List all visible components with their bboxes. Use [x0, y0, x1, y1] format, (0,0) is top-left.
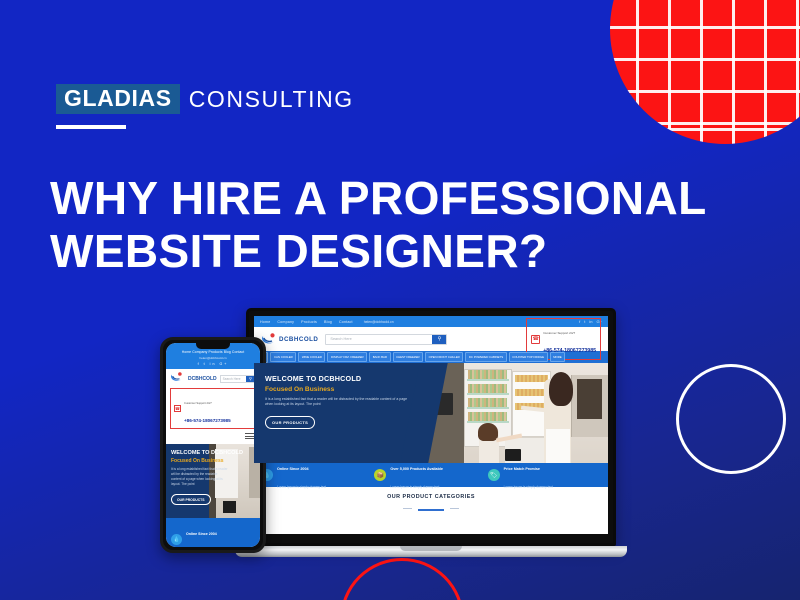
phone-hero-title: WELCOME TO DCBHCOLD [171, 450, 255, 456]
kitchen-oven-window [577, 379, 603, 419]
woman-hair [549, 372, 573, 406]
phone-our-products-button[interactable]: OUR PRODUCTS [171, 494, 211, 505]
phone-support-phone[interactable]: +86-574-18067273985 [184, 418, 231, 423]
fridge-bottles [468, 412, 507, 421]
hero-text-panel: WELCOME TO DCBHCOLD Focused On Business … [254, 363, 424, 463]
page-title: WHY HIRE A PROFESSIONAL WEBSITE DESIGNER… [50, 172, 770, 279]
phone-hero-subtitle: Focused On Business [171, 458, 255, 464]
search-placeholder: Search Here [326, 337, 432, 341]
hero-title: WELCOME TO DCBHCOLD [265, 374, 414, 383]
site-logo-text: DCBHCOLD [279, 336, 318, 343]
laptop-notch [400, 546, 462, 551]
phone-notch [196, 343, 230, 349]
catnav-item-chest-freezer[interactable]: CHEST FREEZER [393, 352, 424, 362]
brand-subtitle: CONSULTING [189, 88, 354, 111]
feature-title: Price Match Promise [504, 467, 540, 471]
tag-icon: 🏷 [488, 469, 500, 481]
phone-link-company[interactable]: Company [192, 350, 207, 354]
topbar-link-contact[interactable]: Contact [339, 320, 353, 324]
category-nav: ⌂ CAN COOLER WINE COOLER DISPLAY FRZ. FR… [254, 351, 608, 363]
laptop-lid: Home Company Products Blog Contact helen… [246, 308, 616, 546]
topbar-link-company[interactable]: Company [277, 320, 294, 324]
feature-subtitle: Lorem Ipsum is simply dummy text [277, 485, 326, 489]
swoosh-logo-icon [170, 372, 185, 385]
phone-hero-section: WELCOME TO DCBHCOLD Focused On Business … [166, 444, 260, 518]
hero-image [424, 363, 608, 463]
phone-support-label: Customer Support 24/7 [184, 402, 212, 405]
fridge-bottles [468, 370, 507, 379]
phone-link-blog[interactable]: Blog [224, 350, 231, 354]
hero-subtitle: Focused On Business [265, 386, 414, 393]
phone-site-header: DCBHCOLD Search Here ⚲ [166, 369, 260, 388]
hamburger-menu-icon[interactable] [166, 432, 260, 444]
catnav-item-dc-powered-cabinets[interactable]: DC POWERED CABINETS [465, 352, 506, 362]
divider-left [403, 508, 412, 509]
phone-icon: ☎ [174, 405, 181, 412]
phone-features-strip: 💧 Online Since 2004 Lorem Ipsum is simpl… [166, 518, 260, 547]
laptop-screen: Home Company Products Blog Contact helen… [254, 316, 608, 534]
fridge-shelf [467, 407, 509, 409]
phone-social-icons[interactable]: f t in G+ [169, 362, 257, 366]
grid-lines [610, 0, 800, 144]
twitter-icon[interactable]: t [204, 362, 207, 366]
facebook-icon[interactable]: f [198, 362, 201, 366]
support-label: Customer Support 24/7 [543, 331, 575, 335]
phone-support-block[interactable]: ☎ Customer Support 24/7 +86-574-18067273… [170, 388, 256, 429]
phone-feature-title: Online Since 2004 [186, 532, 217, 536]
white-ring-decoration [676, 364, 786, 474]
catnav-item-back-bar[interactable]: BACK BAR [369, 352, 390, 362]
brand-name: GLADIAS [56, 84, 180, 114]
hero-paragraph: It is a long established fact that a rea… [265, 397, 408, 408]
phone-nav-links[interactable]: Home Company Products Blog Contact [169, 350, 257, 354]
headline-line-1: WHY HIRE A PROFESSIONAL [50, 172, 707, 224]
phone-mockup: Home Company Products Blog Contact helen… [160, 337, 266, 553]
fridge-shelf [467, 393, 509, 395]
googleplus-icon[interactable]: G+ [219, 362, 228, 366]
topbar-link-home[interactable]: Home [260, 320, 270, 324]
topbar-email[interactable]: helen@dcbhcold.cn [364, 320, 394, 324]
phone-icon: ☎ [531, 335, 540, 344]
topbar-link-products[interactable]: Products [301, 320, 317, 324]
feature-subtitle: Lorem Ipsum is simply dummy text [504, 485, 553, 489]
feature-title: Over 5,000 Products Available [390, 467, 443, 471]
divider-right [450, 508, 459, 509]
phone-feature-item: 💧 Online Since 2004 Lorem Ipsum is simpl… [171, 522, 255, 547]
catnav-item-display-freezer[interactable]: DISPLAY FRZ. FREEZER [327, 352, 367, 362]
laptop-mockup: Home Company Products Blog Contact helen… [246, 308, 616, 557]
phone-link-products[interactable]: Products [208, 350, 222, 354]
phone-search-input[interactable]: Search Here ⚲ [220, 375, 256, 383]
phone-screen: Home Company Products Blog Contact helen… [166, 343, 260, 547]
our-products-button[interactable]: OUR PRODUCTS [265, 416, 315, 429]
phone-frame: Home Company Products Blog Contact helen… [160, 337, 266, 553]
box-icon: 📦 [374, 469, 386, 481]
fridge-shelf [467, 379, 509, 381]
drop-icon: 💧 [171, 534, 182, 545]
fridge-door-item [515, 375, 548, 382]
headline-line-2: WEBSITE DESIGNER? [50, 225, 770, 278]
phone-logo-text: DCBHCOLD [188, 376, 217, 382]
laptop-base [235, 546, 627, 557]
search-icon[interactable]: ⚲ [432, 335, 446, 344]
phone-email[interactable]: helen@dcbhcold.cn [169, 356, 257, 360]
categories-divider [254, 500, 608, 518]
catnav-item-open-front-chiller[interactable]: OPEN FRONT CHILLER [425, 352, 463, 362]
fridge-bottles [468, 384, 507, 393]
brand-underline [56, 125, 126, 129]
site-logo[interactable]: DCBHCOLD [261, 333, 318, 346]
catnav-item-counter-top-fridge[interactable]: COUNTER TOP FRIDGE [509, 352, 548, 362]
fridge-bottles [468, 398, 507, 407]
site-header: DCBHCOLD Search Here ⚲ ☎ Customer Suppor… [254, 327, 608, 351]
kitchen-appliance [505, 449, 522, 461]
divider-center [418, 509, 444, 511]
phone-link-contact[interactable]: Contact [232, 350, 244, 354]
phone-hero-paragraph: It is a long established fact that a rea… [171, 467, 228, 488]
search-input[interactable]: Search Here ⚲ [325, 334, 447, 345]
hero-img-appliance [223, 501, 235, 513]
linkedin-icon[interactable]: in [210, 362, 217, 366]
catnav-item-wine-cooler[interactable]: WINE COOLER [298, 352, 325, 362]
woman-pants [546, 429, 570, 463]
feature-title: Online Since 2004 [277, 467, 309, 471]
red-grid-circle-decoration [610, 0, 800, 144]
phone-link-home[interactable]: Home [182, 350, 191, 354]
brand-logo: GLADIAS CONSULTING [56, 84, 354, 114]
phone-search-placeholder: Search Here [221, 377, 246, 381]
hero-section: WELCOME TO DCBHCOLD Focused On Business … [254, 363, 608, 463]
features-strip: 💧 Online Since 2004 Lorem Ipsum is simpl… [254, 463, 608, 487]
feature-subtitle: Lorem Ipsum is simply dummy text [390, 485, 439, 489]
catnav-item-more[interactable]: MORE [550, 352, 566, 362]
topbar-link-blog[interactable]: Blog [324, 320, 332, 324]
catnav-item-can-cooler[interactable]: CAN COOLER [270, 352, 296, 362]
